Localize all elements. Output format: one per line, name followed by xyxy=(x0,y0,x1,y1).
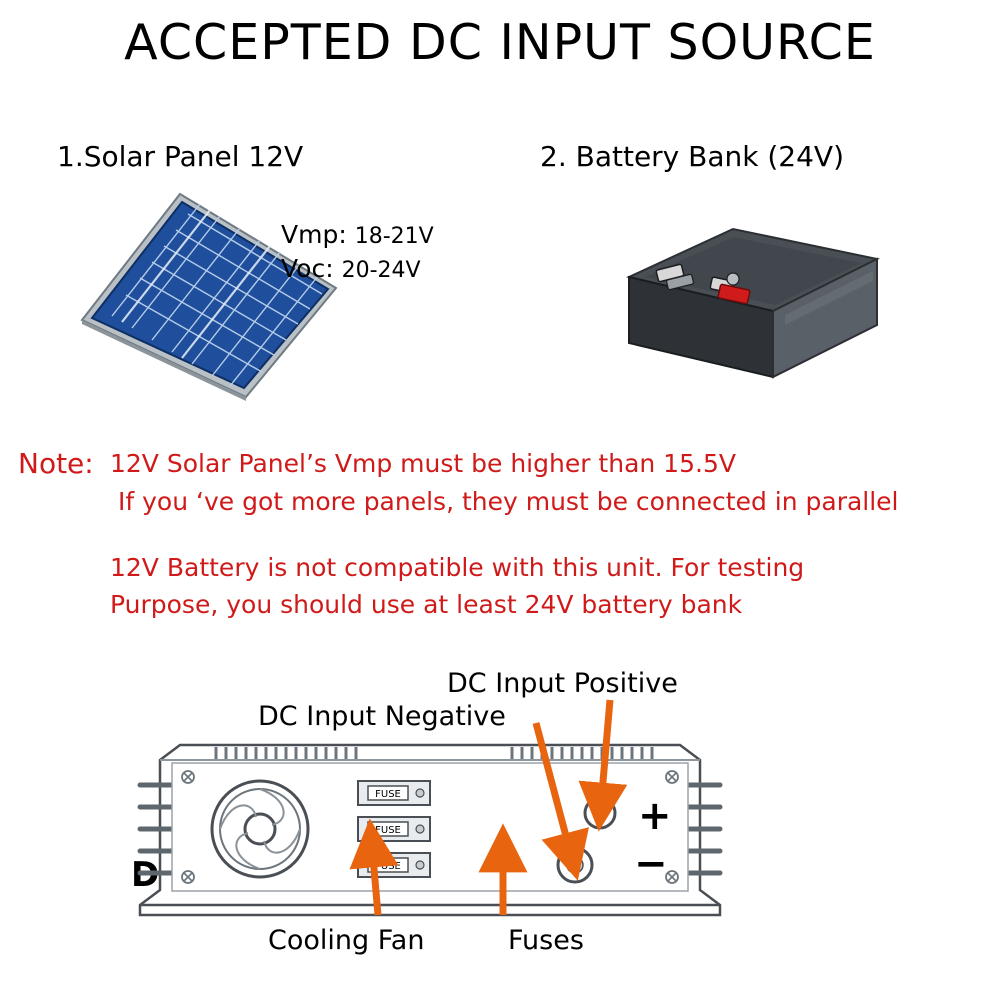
note-line-3: 12V Battery is not compatible with this … xyxy=(110,553,804,582)
svg-text:FUSE: FUSE xyxy=(375,861,401,872)
vmp-value: 18-21V xyxy=(355,224,434,249)
battery-illustration xyxy=(615,215,885,409)
voc-label: Voc: xyxy=(281,254,334,283)
svg-text:+: + xyxy=(638,793,672,839)
solar-panel-specs: Vmp: 18-21V Voc: 20-24V xyxy=(281,218,434,286)
page-title: ACCEPTED DC INPUT SOURCE xyxy=(0,14,1000,71)
fuse-block: FUSE FUSE FUSE xyxy=(358,781,430,877)
poster-root: ACCEPTED DC INPUT SOURCE 1.Solar Panel 1… xyxy=(0,0,1000,1000)
note-label: Note: xyxy=(18,447,94,480)
solar-panel-caption: 1.Solar Panel 12V xyxy=(57,140,303,173)
label-dc-input-positive: DC Input Positive xyxy=(447,668,678,699)
vmp-label: Vmp: xyxy=(281,220,347,249)
svg-text:FUSE: FUSE xyxy=(375,825,401,836)
note-line-1: 12V Solar Panel’s Vmp must be higher tha… xyxy=(110,449,736,478)
inverter-illustration: FUSE FUSE FUSE + − xyxy=(120,725,740,934)
voc-value: 20-24V xyxy=(342,258,421,283)
battery-bank-caption: 2. Battery Bank (24V) xyxy=(540,140,844,173)
svg-text:−: − xyxy=(634,841,668,887)
svg-text:FUSE: FUSE xyxy=(375,789,401,800)
note-line-2: If you ‘ve got more panels, they must be… xyxy=(118,487,899,516)
note-line-4: Purpose, you should use at least 24V bat… xyxy=(110,590,742,619)
